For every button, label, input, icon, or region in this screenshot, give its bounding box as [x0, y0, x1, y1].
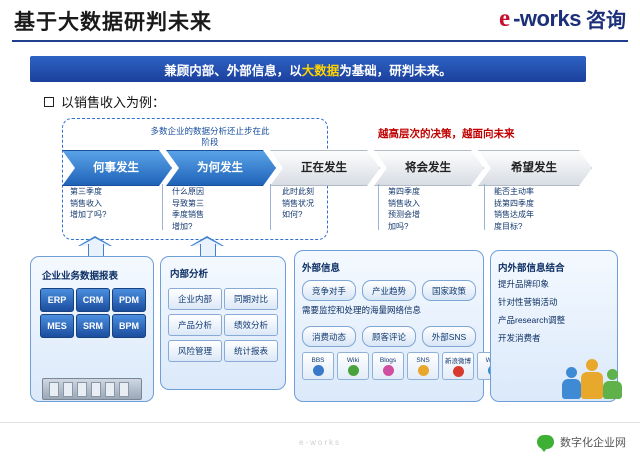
stage-chevron-row: 何事发生 为何发生 正在发生 将会发生 希望发生 — [62, 150, 590, 184]
eworks-logo: e -works 咨询 — [499, 4, 626, 33]
stage-question-2: 此时此刻 销售状况 如何? — [282, 186, 362, 221]
up-arrow-middle — [190, 236, 224, 258]
stage-chevron-1[interactable]: 为何发生 — [166, 150, 274, 184]
person-body-green — [603, 381, 622, 399]
stage-chevron-0[interactable]: 何事发生 — [62, 150, 170, 184]
banner-prefix: 兼顾内部、外部信息，以 — [164, 60, 302, 79]
sns-bbs-icon[interactable]: BBS — [302, 352, 334, 380]
sns-sns-icon[interactable]: SNS — [407, 352, 439, 380]
server-slot — [119, 382, 129, 397]
slide-root: 基于大数据研判未来 e -works 咨询 兼顾内部、外部信息，以 大数据 为基… — [0, 0, 640, 457]
tile-bpm[interactable]: BPM — [112, 314, 146, 338]
server-slot — [91, 382, 101, 397]
banner-suffix: 为基础，研判未来。 — [339, 60, 452, 79]
sns-wiki-icon[interactable]: Wiki — [337, 352, 369, 380]
sns-weibo-icon[interactable]: 新浪微博 — [442, 352, 474, 380]
logo-e-letter: e — [499, 6, 510, 31]
question-divider-1 — [162, 184, 163, 230]
bullet-label: 以销售收入为例： — [61, 92, 165, 111]
panel-internal-title: 内部分析 — [170, 266, 208, 280]
sns-dot — [453, 366, 464, 377]
tile-internal-0[interactable]: 企业内部 — [168, 288, 222, 310]
page-title: 基于大数据研判未来 — [14, 6, 212, 36]
panel-external-title: 外部信息 — [302, 260, 340, 274]
stage-chevron-4[interactable]: 希望发生 — [478, 150, 590, 184]
wechat-icon — [537, 435, 554, 449]
panel-combined-title: 内外部信息结合 — [498, 260, 565, 274]
tile-internal-2[interactable]: 产品分析 — [168, 314, 222, 336]
watermark-text: e-works — [299, 438, 341, 447]
tile-external-0[interactable]: 竞争对手 — [302, 280, 356, 301]
bullet-line: 以销售收入为例： — [44, 92, 165, 111]
tile-crm[interactable]: CRM — [76, 288, 110, 312]
panel-enterprise-title: 企业业务数据报表 — [42, 268, 118, 282]
tile-srm[interactable]: SRM — [76, 314, 110, 338]
sns-dot — [418, 365, 429, 376]
stage-label: 希望发生 — [511, 159, 557, 175]
sns-label: 新浪微博 — [445, 355, 471, 365]
tile-mes[interactable]: MES — [40, 314, 74, 338]
combined-line-3: 开发消费者 — [498, 332, 541, 346]
stage-label: 将会发生 — [405, 159, 451, 175]
combined-line-1: 针对性营销活动 — [498, 296, 558, 310]
server-slot — [105, 382, 115, 397]
tile-external-3[interactable]: 消费动态 — [302, 326, 356, 347]
server-slot — [49, 382, 59, 397]
tile-erp[interactable]: ERP — [40, 288, 74, 312]
tile-external-1[interactable]: 产业趋势 — [362, 280, 416, 301]
sns-dot — [313, 365, 324, 376]
slide-footer: e-works 数字化企业网 — [0, 422, 640, 457]
person-body-blue — [562, 379, 581, 399]
question-divider-3 — [378, 184, 379, 230]
person-body-orange — [581, 372, 603, 399]
stage-question-1: 什么原因 导致第三 季度销售 增加? — [172, 186, 252, 232]
tile-internal-3[interactable]: 绩效分析 — [224, 314, 278, 336]
stage-label: 为何发生 — [197, 159, 243, 175]
logo-suffix-text: 咨询 — [586, 4, 626, 33]
stage-question-3: 第四季度 销售收入 预测会增 加吗? — [388, 186, 468, 232]
sns-label: SNS — [416, 357, 429, 364]
wechat-badge: 数字化企业网 — [537, 434, 626, 450]
person-head-blue — [566, 367, 577, 378]
combined-line-0: 提升品牌印象 — [498, 278, 549, 292]
stage-chevron-2[interactable]: 正在发生 — [270, 150, 378, 184]
question-divider-2 — [270, 184, 271, 230]
slide-header: 基于大数据研判未来 e -works 咨询 — [0, 0, 640, 44]
server-slot — [77, 382, 87, 397]
stage-chevron-3[interactable]: 将会发生 — [374, 150, 482, 184]
person-head-green — [607, 369, 618, 380]
server-slot — [63, 382, 73, 397]
sns-icon-row: BBS Wiki Blogs SNS 新浪微博 WEB — [302, 352, 509, 380]
question-divider-4 — [484, 184, 485, 230]
tile-external-5[interactable]: 外部SNS — [422, 326, 476, 347]
server-graphic — [42, 378, 142, 400]
tile-internal-5[interactable]: 统计报表 — [224, 340, 278, 362]
external-note-text: 需要监控和处理的海量网络信息 — [302, 304, 421, 318]
sns-dot — [348, 365, 359, 376]
header-divider — [12, 40, 628, 42]
sns-label: Wiki — [347, 357, 359, 364]
sns-label: BBS — [311, 357, 324, 364]
dashed-note-text: 多数企业的数据分析还止步在此阶段 — [150, 126, 270, 149]
tile-external-2[interactable]: 国家政策 — [422, 280, 476, 301]
stage-label: 何事发生 — [93, 159, 139, 175]
tile-pdm[interactable]: PDM — [112, 288, 146, 312]
up-arrow-left — [78, 236, 112, 258]
sns-blogs-icon[interactable]: Blogs — [372, 352, 404, 380]
tile-external-4[interactable]: 顾客评论 — [362, 326, 416, 347]
logo-works-text: -works — [513, 6, 581, 32]
stage-question-4: 能否主动率 拢第四季度 销售达成年 度目标? — [494, 186, 582, 232]
people-graphic — [562, 353, 626, 403]
summary-banner: 兼顾内部、外部信息，以 大数据 为基础，研判未来。 — [30, 56, 586, 82]
banner-highlight: 大数据 — [302, 60, 340, 79]
sns-label: Blogs — [380, 357, 396, 364]
stage-label: 正在发生 — [301, 159, 347, 175]
top-note-text: 越高层次的决策，越面向未来 — [378, 126, 515, 141]
stage-question-0: 第三季度 销售收入 增加了吗? — [70, 186, 150, 221]
person-head-orange — [586, 359, 598, 371]
tile-internal-4[interactable]: 风险管理 — [168, 340, 222, 362]
wechat-label: 数字化企业网 — [560, 434, 626, 450]
tile-internal-1[interactable]: 同期对比 — [224, 288, 278, 310]
combined-line-2: 产品research调整 — [498, 314, 565, 328]
square-bullet-icon — [44, 97, 54, 107]
sns-dot — [383, 365, 394, 376]
